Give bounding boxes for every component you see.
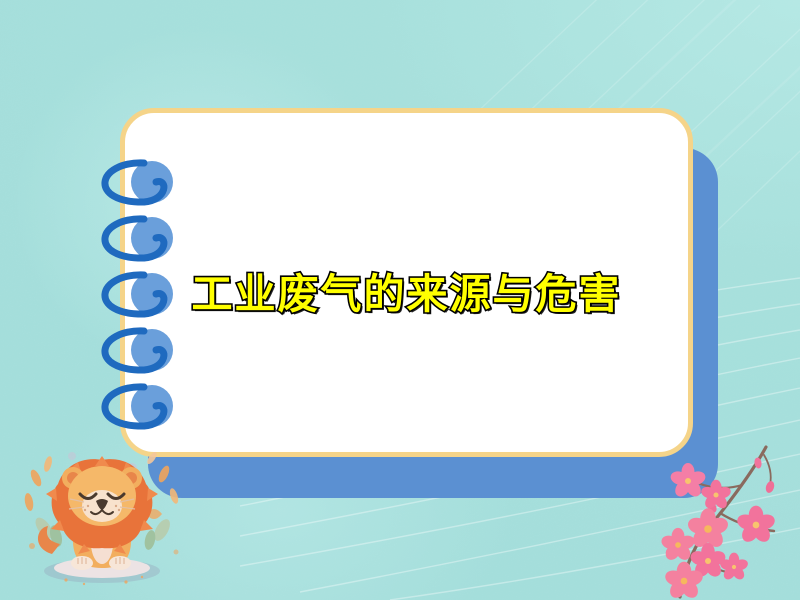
binding-ring [105, 161, 173, 203]
binding-ring [105, 385, 173, 427]
blossom-flowers [660, 463, 777, 600]
presentation-slide: 工业废气的来源与危害 [0, 0, 800, 600]
cherry-blossom-branch-icon [650, 445, 800, 600]
page-title: 工业废气的来源与危害 [120, 270, 693, 318]
cartoon-lion-mascot-icon [14, 444, 190, 592]
binding-ring [105, 273, 173, 315]
binding-ring [105, 217, 173, 259]
spiral-binding [82, 150, 202, 440]
binding-ring [105, 329, 173, 371]
